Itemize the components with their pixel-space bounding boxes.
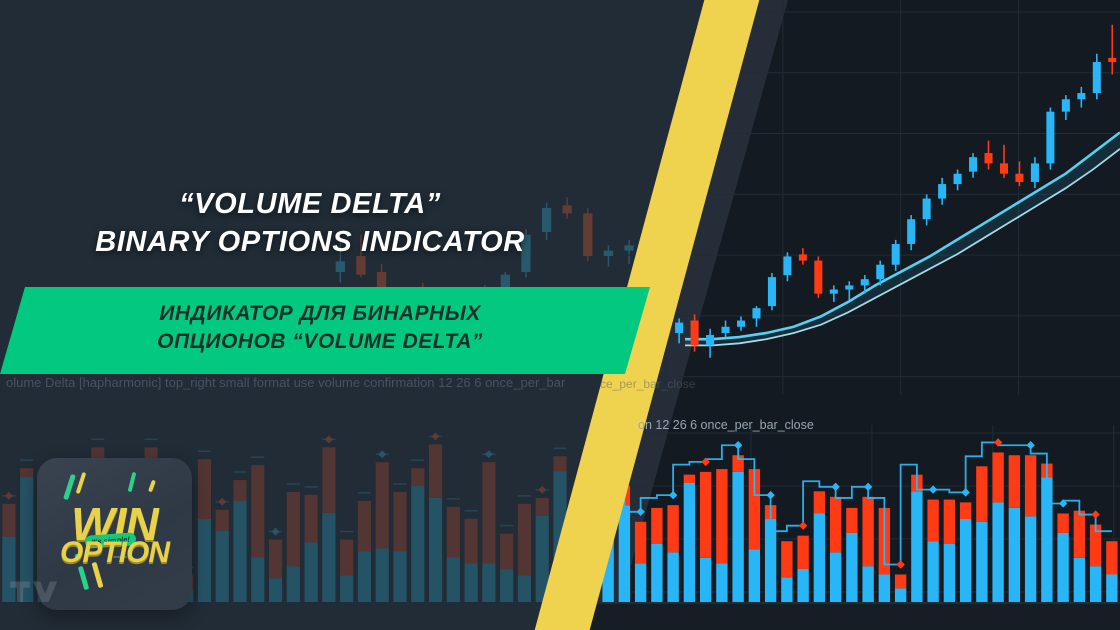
indicator-settings-label-left: olume Delta [hapharmonic] top_right smal… [6,375,626,390]
page-title: “VOLUME DELTA” BINARY OPTIONS INDICATOR [0,186,620,261]
spark-decoration [128,472,137,492]
subtitle-banner-text: ИНДИКАТОР ДЛЯ БИНАРНЫХ ОПЦИОНОВ “VOLUME … [0,300,640,356]
spark-decoration [76,472,87,494]
indicator-settings-label-right-faded: ce_per_bar_close [600,377,695,391]
logo-line-option: OPTION [37,536,192,570]
promo-banner: olume Delta [hapharmonic] top_right smal… [0,0,1120,630]
bottom-strip-right [560,604,1120,630]
tradingview-logo-icon [8,578,62,608]
indicator-settings-label-volume: on 12 26 6 once_per_bar_close [638,418,814,432]
spark-decoration [148,480,156,493]
volume-delta-histogram [600,425,1120,605]
